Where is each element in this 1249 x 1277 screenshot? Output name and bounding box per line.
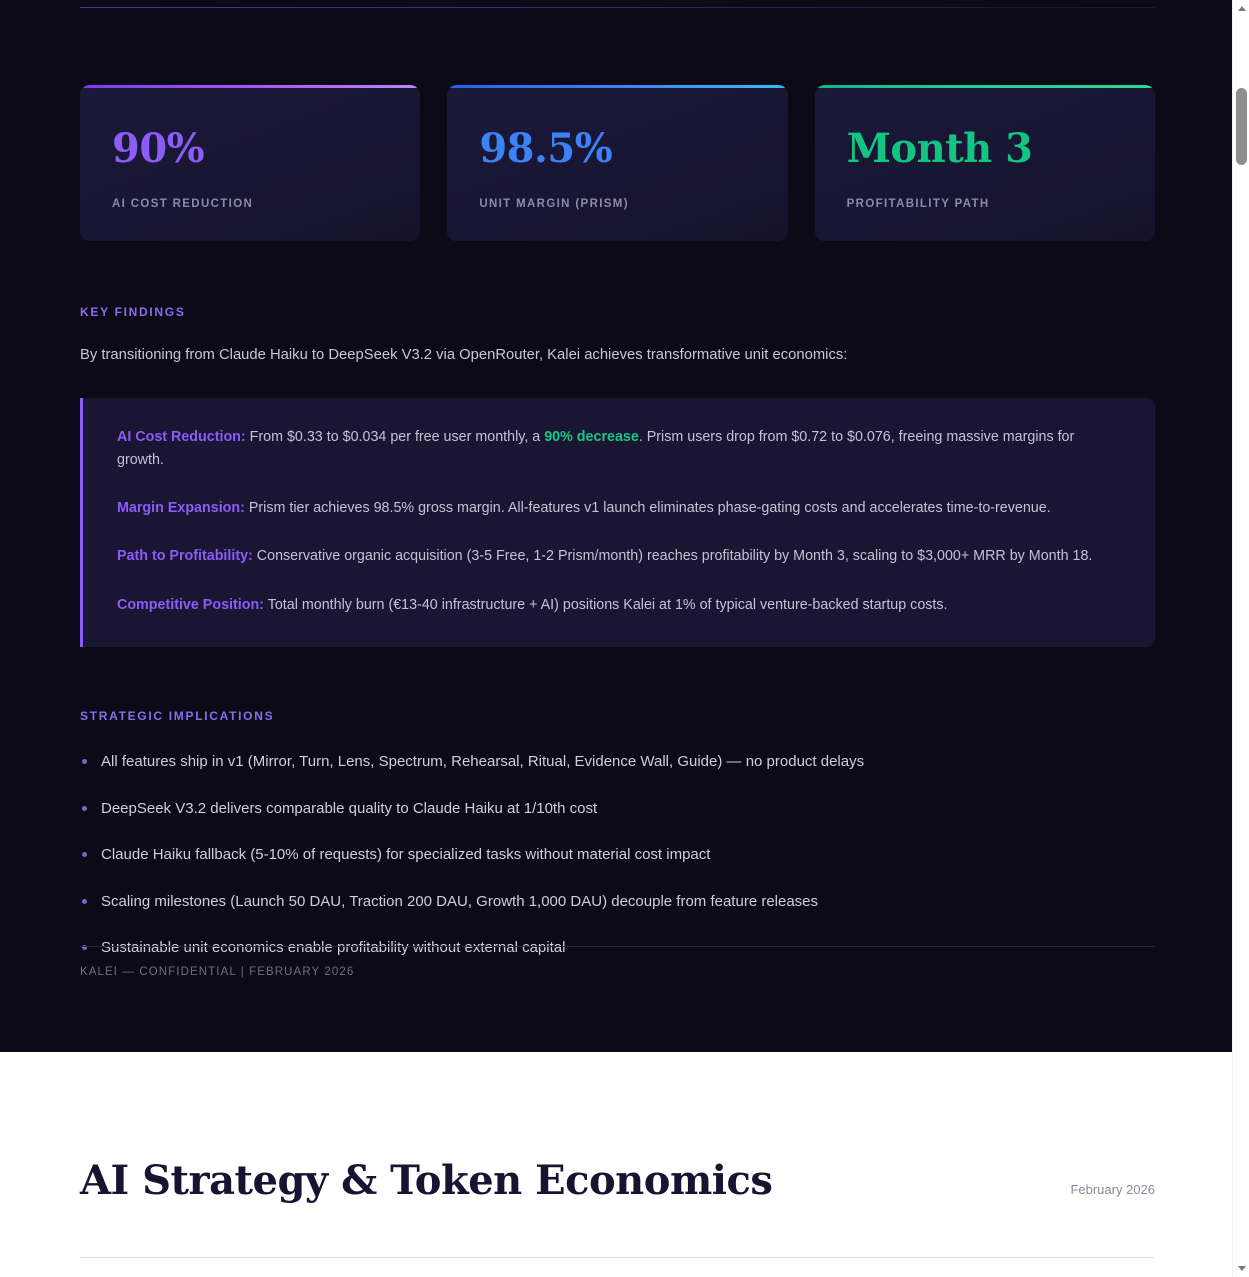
metric-label: AI COST REDUCTION: [112, 198, 388, 210]
metric-value: Month 3: [847, 129, 1123, 169]
metric-card-ai-cost-reduction: 90% AI COST REDUCTION: [80, 85, 420, 241]
finding-term: Path to Profitability:: [117, 548, 253, 564]
list-item: DeepSeek V3.2 delivers comparable qualit…: [80, 798, 1155, 821]
finding-ai-cost-reduction: AI Cost Reduction: From $0.33 to $0.034 …: [117, 426, 1121, 472]
finding-term: AI Cost Reduction:: [117, 429, 246, 445]
list-item: Scaling milestones (Launch 50 DAU, Tract…: [80, 891, 1155, 914]
metric-card-unit-margin: 98.5% UNIT MARGIN (PRISM): [447, 85, 787, 241]
triangle-up-icon[interactable]: [1233, 0, 1249, 17]
finding-highlight: 90% decrease: [544, 429, 639, 445]
vertical-scrollbar[interactable]: [1232, 0, 1249, 1277]
slide-ai-strategy-token-economics: AI Strategy & Token Economics February 2…: [0, 1052, 1232, 1277]
scrollbar-thumb[interactable]: [1236, 88, 1247, 165]
strategic-implications-block: STRATEGIC IMPLICATIONS All features ship…: [80, 709, 1155, 960]
slide-footer: KALEI — CONFIDENTIAL | FEBRUARY 2026: [80, 946, 1155, 978]
key-findings-heading-block: KEY FINDINGS By transitioning from Claud…: [80, 305, 1155, 368]
strategic-implications-list: All features ship in v1 (Mirror, Turn, L…: [80, 751, 1155, 960]
key-findings-panel: AI Cost Reduction: From $0.33 to $0.034 …: [80, 398, 1155, 647]
list-item: Claude Haiku fallback (5-10% of requests…: [80, 844, 1155, 867]
finding-text-before: Total monthly burn (€13-40 infrastructur…: [264, 597, 948, 613]
top-divider: [80, 7, 1155, 8]
list-item: All features ship in v1 (Mirror, Turn, L…: [80, 751, 1155, 774]
key-findings-eyebrow: KEY FINDINGS: [80, 305, 1155, 319]
finding-text-before: Prism tier achieves 98.5% gross margin. …: [245, 500, 1051, 516]
page-title: AI Strategy & Token Economics: [80, 1160, 772, 1202]
finding-text-before: Conservative organic acquisition (3-5 Fr…: [253, 548, 1093, 564]
strategic-implications-eyebrow: STRATEGIC IMPLICATIONS: [80, 709, 1155, 723]
footer-confidential-text: KALEI — CONFIDENTIAL | FEBRUARY 2026: [80, 966, 1155, 978]
document-viewport: 90% AI COST REDUCTION 98.5% UNIT MARGIN …: [0, 0, 1249, 1277]
metric-value: 90%: [112, 129, 388, 169]
document-date: February 2026: [1070, 1182, 1155, 1197]
metric-value: 98.5%: [479, 129, 755, 169]
metric-label: PROFITABILITY PATH: [847, 198, 1123, 210]
slide-executive-summary: 90% AI COST REDUCTION 98.5% UNIT MARGIN …: [0, 0, 1232, 1052]
finding-term: Competitive Position:: [117, 597, 264, 613]
finding-competitive-position: Competitive Position: Total monthly burn…: [117, 594, 1121, 617]
finding-term: Margin Expansion:: [117, 500, 245, 516]
finding-text-before: From $0.33 to $0.034 per free user month…: [246, 429, 545, 445]
header-divider: [80, 1257, 1155, 1258]
key-findings-lead: By transitioning from Claude Haiku to De…: [80, 344, 1155, 368]
footer-divider: [80, 946, 1155, 947]
metric-label: UNIT MARGIN (PRISM): [479, 198, 755, 210]
metric-card-row: 90% AI COST REDUCTION 98.5% UNIT MARGIN …: [80, 85, 1155, 241]
triangle-down-icon[interactable]: [1233, 1260, 1249, 1277]
document-header: AI Strategy & Token Economics February 2…: [80, 1160, 1155, 1202]
finding-margin-expansion: Margin Expansion: Prism tier achieves 98…: [117, 497, 1121, 520]
metric-card-profitability-path: Month 3 PROFITABILITY PATH: [815, 85, 1155, 241]
finding-path-to-profitability: Path to Profitability: Conservative orga…: [117, 545, 1121, 568]
